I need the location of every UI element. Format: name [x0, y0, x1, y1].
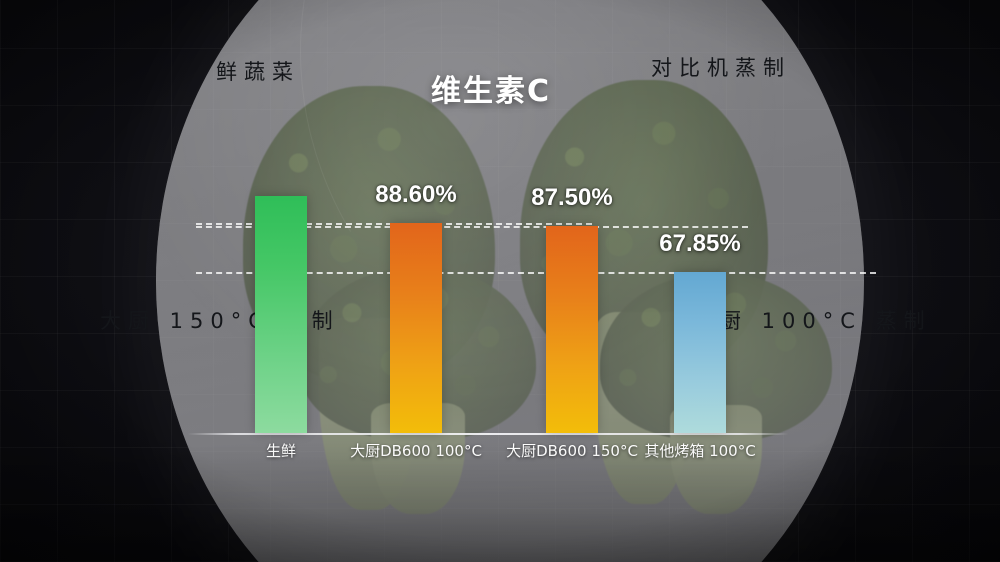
bar-value-label: 87.50% [514, 184, 630, 212]
bar-value-label: 88.60% [358, 181, 474, 209]
slide-canvas: 鲜蔬菜 对比机蒸制 大厨 150°C 烤制 大厨 100°C 蒸制 88.60%… [0, 0, 1000, 562]
category-label: 大厨DB600 100°C [326, 440, 506, 461]
chart-baseline [188, 433, 788, 435]
bar-4[interactable] [674, 272, 726, 433]
chart-title: 维生素C [431, 66, 551, 110]
bar-2[interactable] [390, 223, 442, 433]
bar-3[interactable] [546, 226, 598, 433]
bar-value-label: 67.85% [642, 230, 758, 258]
category-label: 其他烤箱 100°C [610, 440, 790, 461]
bar-1[interactable] [255, 196, 307, 433]
